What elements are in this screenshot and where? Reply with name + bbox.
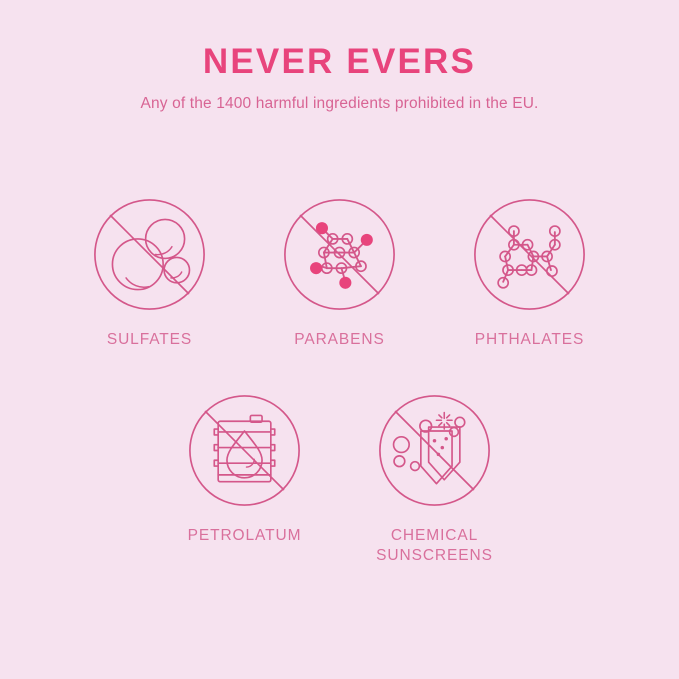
- no-phthalates-molecule-icon: [471, 196, 588, 313]
- header: NEVER EVERS Any of the 1400 harmful ingr…: [0, 44, 679, 113]
- item-label: SULFATES: [107, 330, 192, 350]
- icon-row-bottom: PETROLATUM: [0, 392, 679, 566]
- item-label: PETROLATUM: [188, 526, 302, 546]
- item-parabens: PARABENS: [245, 196, 435, 350]
- no-chemical-sunscreens-bottle-icon: [376, 392, 493, 509]
- no-sulfates-bubbles-icon: [91, 196, 208, 313]
- item-label: PARABENS: [294, 330, 384, 350]
- item-phthalates: PHTHALATES: [435, 196, 625, 350]
- icon-row-top: SULFATES: [0, 196, 679, 350]
- item-label: CHEMICAL SUNSCREENS: [376, 526, 493, 566]
- page-subtitle: Any of the 1400 harmful ingredients proh…: [0, 81, 679, 114]
- never-evers-infographic: NEVER EVERS Any of the 1400 harmful ingr…: [0, 0, 679, 679]
- no-petrolatum-barrel-icon: [186, 392, 303, 509]
- no-parabens-molecule-icon: [281, 196, 398, 313]
- item-sulfates: SULFATES: [55, 196, 245, 350]
- item-label: PHTHALATES: [475, 330, 585, 350]
- item-chemical-sunscreens: CHEMICAL SUNSCREENS: [340, 392, 530, 566]
- item-petrolatum: PETROLATUM: [150, 392, 340, 566]
- page-title: NEVER EVERS: [0, 44, 679, 81]
